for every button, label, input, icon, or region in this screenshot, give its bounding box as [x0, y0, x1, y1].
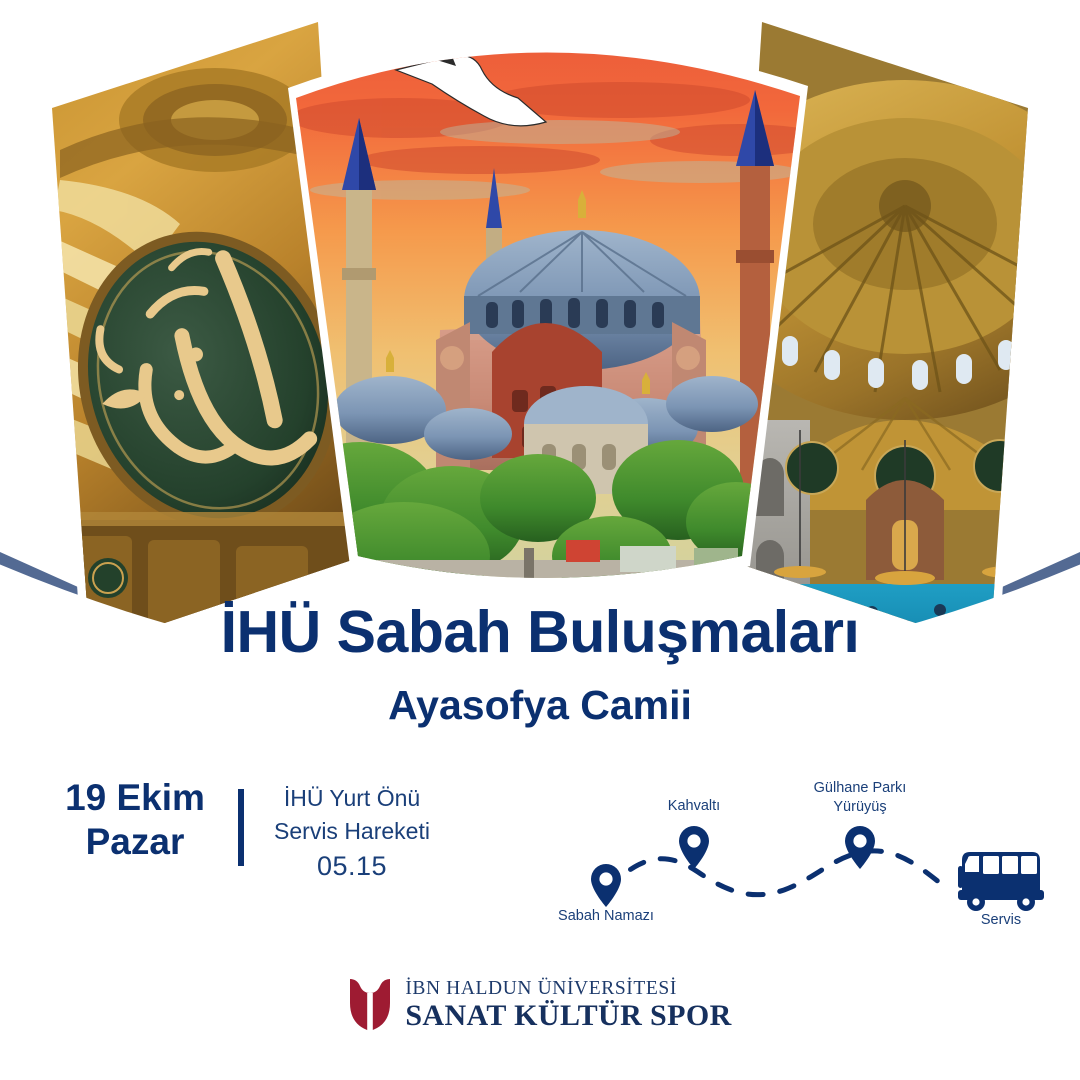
- meeting-info: İHÜ Yurt Önü Servis Hareketi 05.15: [252, 782, 452, 886]
- itinerary-stop-label-2: Yürüyüş: [833, 799, 886, 815]
- tulip-icon: [348, 975, 392, 1035]
- meeting-location-line1: İHÜ Yurt Önü: [252, 782, 452, 815]
- event-poster: İHÜ Sabah Buluşmaları Ayasofya Camii 19 …: [0, 0, 1080, 1080]
- logo-university-name: İBN HALDUN ÜNİVERSİTESİ: [405, 978, 731, 1000]
- date-divider: [238, 789, 244, 866]
- date-weekday: Pazar: [40, 820, 230, 864]
- route-dashed-path: [606, 851, 944, 895]
- itinerary-stop-label: Kahvaltı: [668, 798, 720, 814]
- itinerary-stop-label: Gülhane Parkı: [814, 780, 907, 796]
- bus-icon: [958, 852, 1044, 911]
- logo-department-name: SANAT KÜLTÜR SPOR: [405, 1000, 731, 1032]
- meeting-time: 05.15: [252, 847, 452, 885]
- itinerary-stop-label: Servis: [981, 912, 1021, 928]
- meeting-location-line2: Servis Hareketi: [252, 815, 452, 848]
- photo-collage: [0, 0, 1080, 700]
- event-date: 19 Ekim Pazar: [40, 776, 230, 863]
- collage-photo-center: [280, 0, 830, 620]
- itinerary-stop-sabah-namazi: Sabah Namazı: [558, 864, 654, 924]
- itinerary-stop-gulhane-parki: Gülhane Parkı Yürüyüş: [814, 780, 907, 869]
- date-day-month: 19 Ekim: [40, 776, 230, 820]
- itinerary-stop-label: Sabah Namazı: [558, 908, 654, 924]
- itinerary-route: Sabah Namazı Kahvaltı Gülhane Parkı Yürü…: [540, 760, 1050, 940]
- page-title: İHÜ Sabah Buluşmaları: [0, 598, 1080, 666]
- page-subtitle: Ayasofya Camii: [0, 682, 1080, 729]
- university-logo: İBN HALDUN ÜNİVERSİTESİ SANAT KÜLTÜR SPO…: [0, 975, 1080, 1035]
- itinerary-stop-servis: Servis: [958, 852, 1044, 928]
